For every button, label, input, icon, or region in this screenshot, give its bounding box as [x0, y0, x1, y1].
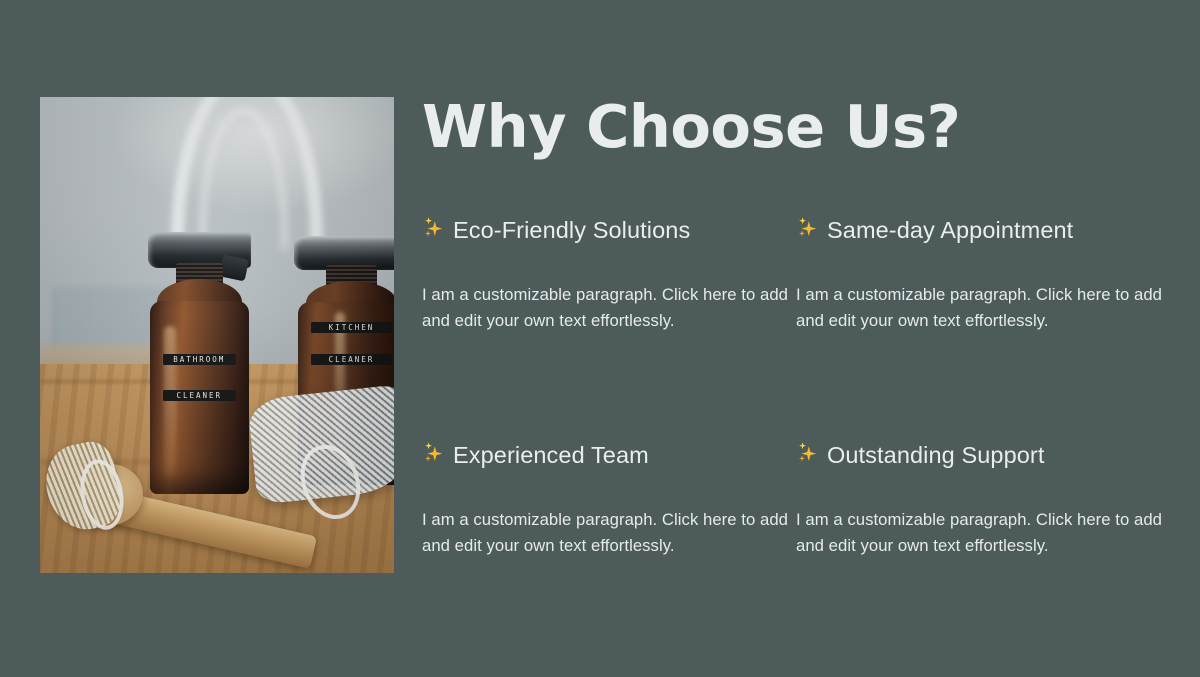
feature-title: Same-day Appointment: [827, 218, 1073, 244]
feature-heading: Same-day Appointment: [796, 214, 1162, 244]
feature-body: I am a customizable paragraph. Click her…: [422, 282, 788, 335]
feature-body: I am a customizable paragraph. Click her…: [796, 282, 1162, 335]
feature-item-experienced-team[interactable]: Experienced Team I am a customizable par…: [422, 439, 788, 560]
bottle-label-line2: CLEANER: [311, 354, 392, 365]
feature-body: I am a customizable paragraph. Click her…: [796, 507, 1162, 560]
spray-nozzle: [219, 255, 249, 282]
slide-canvas: KITCHEN CLEANER BATHROOM CLEANER: [0, 0, 1200, 677]
feature-title: Outstanding Support: [827, 443, 1044, 469]
feature-heading: Experienced Team: [422, 439, 788, 469]
bottle-label-line1: BATHROOM: [163, 354, 236, 365]
feature-body: I am a customizable paragraph. Click her…: [422, 507, 788, 560]
features-grid: Eco-Friendly Solutions I am a customizab…: [422, 214, 1162, 560]
sparkles-icon: [422, 216, 444, 240]
sparkles-icon: [422, 441, 444, 465]
feature-title: Eco-Friendly Solutions: [453, 218, 690, 244]
page-title: Why Choose Us?: [422, 97, 1162, 156]
bottle-label-line1: KITCHEN: [311, 322, 392, 333]
bathroom-cleaner-bottle: BATHROOM CLEANER: [150, 218, 249, 494]
feature-item-same-day-appointment[interactable]: Same-day Appointment I am a customizable…: [796, 214, 1162, 335]
feature-item-eco-friendly-solutions[interactable]: Eco-Friendly Solutions I am a customizab…: [422, 214, 788, 335]
sparkles-icon: [796, 441, 818, 465]
photo-content: KITCHEN CLEANER BATHROOM CLEANER: [40, 97, 394, 573]
feature-heading: Eco-Friendly Solutions: [422, 214, 788, 244]
feature-title: Experienced Team: [453, 443, 649, 469]
bottle-highlight: [164, 326, 176, 478]
feature-item-outstanding-support[interactable]: Outstanding Support I am a customizable …: [796, 439, 1162, 560]
bottle-label-line2: CLEANER: [163, 390, 236, 401]
content-column: Why Choose Us? Eco-Friendly Solutions I …: [422, 97, 1162, 560]
sparkles-icon: [796, 216, 818, 240]
feature-heading: Outstanding Support: [796, 439, 1162, 469]
feature-photo[interactable]: KITCHEN CLEANER BATHROOM CLEANER: [40, 97, 394, 573]
